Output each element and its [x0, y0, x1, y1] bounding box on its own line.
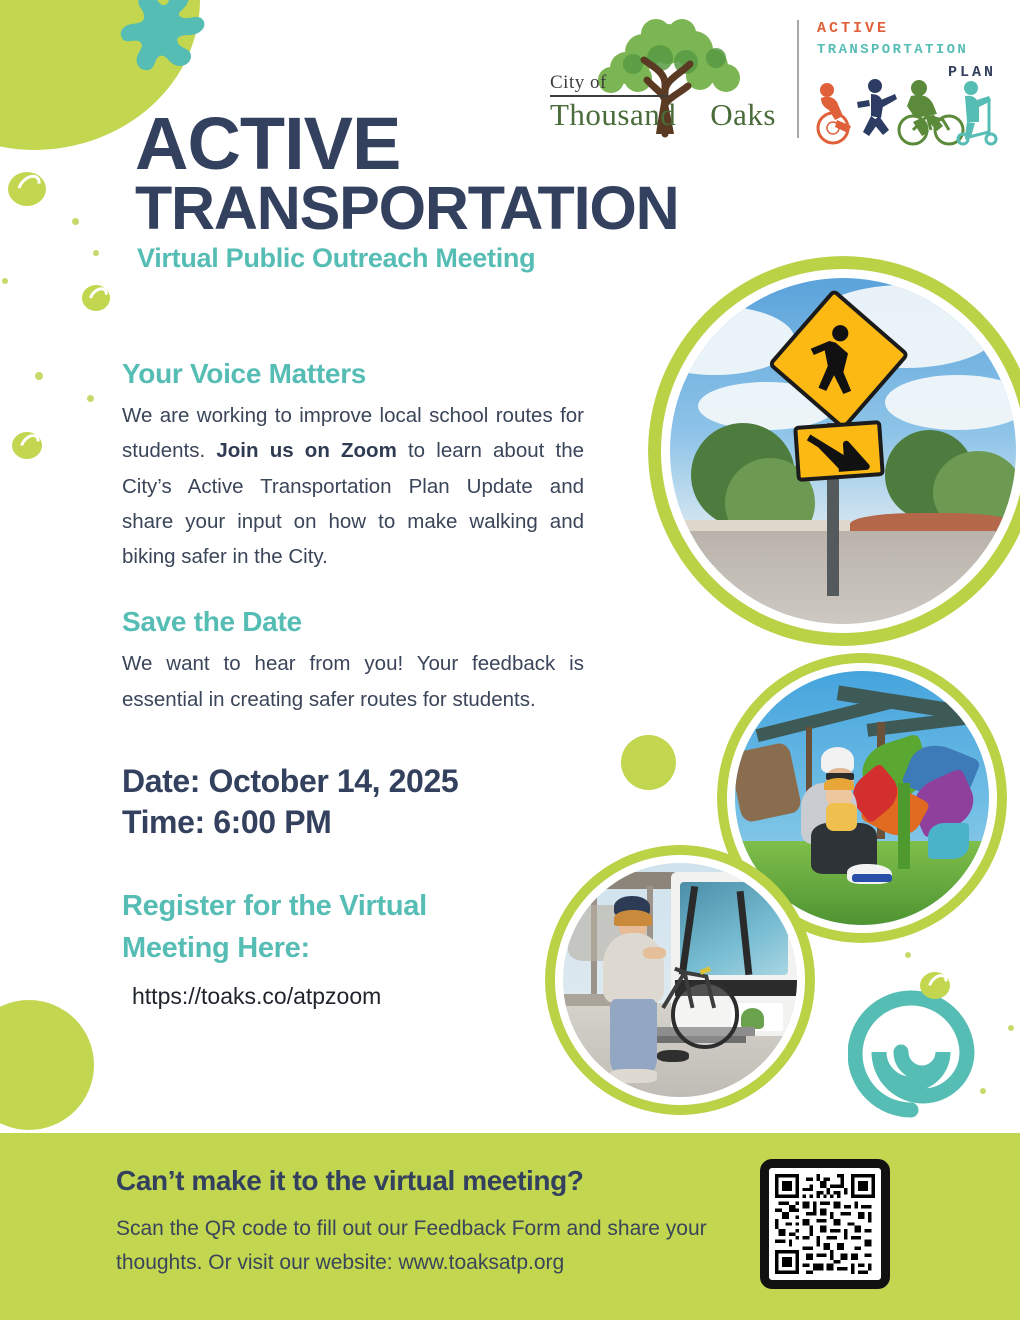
cyclist-icon — [899, 80, 963, 144]
qr-code[interactable] — [760, 1159, 890, 1289]
meeting-time: Time: 6:00 PM — [122, 802, 584, 843]
green-circle-decoration — [0, 1000, 94, 1130]
datetime-block: Date: October 14, 2025 Time: 6:00 PM — [122, 761, 584, 843]
content-column: Your Voice Matters We are working to imp… — [122, 358, 584, 1010]
meeting-date: Date: October 14, 2025 — [122, 761, 584, 802]
bike-bus-rack-photo — [545, 845, 815, 1115]
mini-dot — [1008, 1025, 1014, 1031]
poster: City of Thousand Oaks ACTIVE TRANSPORTAT… — [0, 0, 1020, 1320]
qr-code-icon — [775, 1174, 875, 1274]
atp-active-text: ACTIVE — [817, 20, 889, 37]
pedestrian-crossing-sign-photo — [648, 256, 1020, 646]
mini-dot — [2, 278, 8, 284]
mini-dot — [35, 372, 43, 380]
title-block: ACTIVE TRANSPORTATION Virtual Public Out… — [135, 110, 678, 274]
mini-dot — [72, 218, 79, 225]
wheelchair-icon — [818, 83, 851, 143]
mini-dot — [980, 1088, 986, 1094]
scooter-icon — [958, 81, 996, 144]
save-the-date-text: We want to hear from you! Your feedback … — [122, 646, 584, 717]
green-dot-decoration — [621, 735, 676, 790]
oaks-text: Oaks — [710, 97, 776, 133]
teal-squiggle-decoration — [112, 0, 232, 106]
your-voice-matters-text: We are working to improve local school r… — [122, 398, 584, 574]
bubble-dot — [82, 285, 110, 311]
page-title-line1: ACTIVE — [135, 110, 678, 178]
city-of-text: City of — [550, 72, 776, 94]
banner-subtext: Scan the QR code to fill out our Feedbac… — [116, 1212, 736, 1280]
page-subtitle: Virtual Public Outreach Meeting — [137, 243, 678, 274]
mini-dot — [905, 952, 911, 958]
mini-dot — [93, 250, 99, 256]
registration-url[interactable]: https://toaks.co/atpzoom — [132, 983, 584, 1010]
register-heading: Register for the Virtual Meeting Here: — [122, 885, 522, 969]
register-heading-line2: Meeting Here: — [122, 927, 522, 969]
bubble-dot — [920, 972, 950, 999]
bottom-banner: Can’t make it to the virtual meeting? Sc… — [0, 1133, 1020, 1320]
your-voice-matters-heading: Your Voice Matters — [122, 358, 584, 390]
bubble-dot — [8, 172, 46, 206]
active-transportation-plan-logo: ACTIVE TRANSPORTATION PLAN — [813, 14, 998, 144]
bubble-dot — [12, 432, 42, 459]
register-heading-line1: Register for the Virtual — [122, 885, 522, 927]
mini-dot — [87, 395, 94, 402]
teal-spiral-decoration — [848, 990, 978, 1120]
page-title-line2: TRANSPORTATION — [135, 178, 678, 239]
save-the-date-heading: Save the Date — [122, 606, 584, 638]
runner-icon — [857, 79, 897, 136]
atp-transportation-text: TRANSPORTATION — [817, 42, 968, 58]
voice-text-bold: Join us on Zoom — [216, 439, 396, 462]
logo-divider — [797, 20, 799, 138]
banner-heading: Can’t make it to the virtual meeting? — [116, 1165, 584, 1197]
